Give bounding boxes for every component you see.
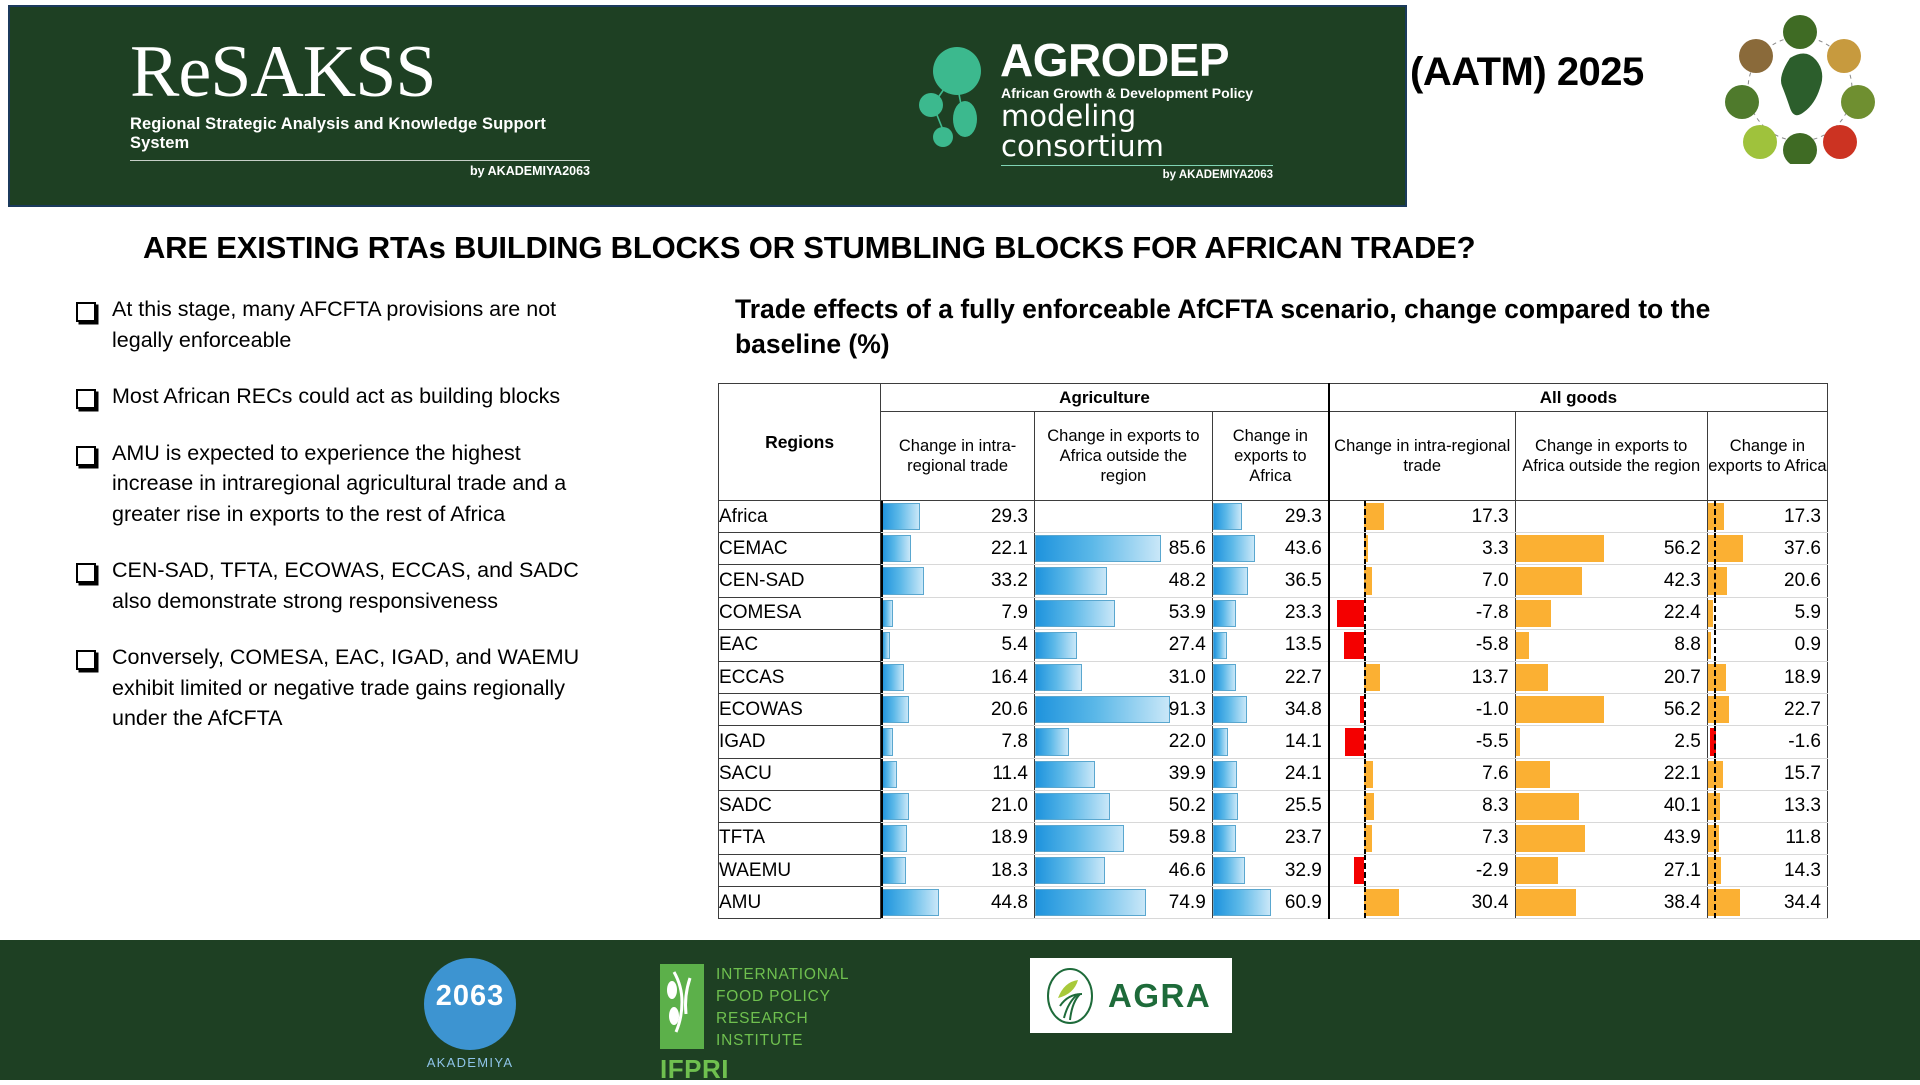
row-label-sadc: SADC xyxy=(719,790,881,822)
cell-cemac-c3: 3.3 xyxy=(1329,533,1515,565)
page-title: ARE EXISTING RTAs BUILDING BLOCKS OR STU… xyxy=(143,230,1743,266)
cell-sacu-c3: 7.6 xyxy=(1329,758,1515,790)
cell-amu-c3: 30.4 xyxy=(1329,887,1515,919)
cell-value: 37.6 xyxy=(1784,533,1821,564)
cell-value: 22.1 xyxy=(991,533,1028,564)
cell-eac-c0: 5.4 xyxy=(881,629,1035,661)
cell-waemu-c0: 18.3 xyxy=(881,855,1035,887)
zero-axis-dashed-line xyxy=(1714,694,1716,726)
cell-cen-sad-c5: 20.6 xyxy=(1707,565,1827,597)
cell-value: 25.5 xyxy=(1285,791,1322,822)
cell-value: 7.8 xyxy=(1002,726,1028,757)
cell-tfta-c2: 23.7 xyxy=(1212,822,1329,854)
agra-seed-icon xyxy=(1044,966,1100,1026)
col-header-regions: Regions xyxy=(719,384,881,501)
cell-value: -5.8 xyxy=(1476,630,1509,661)
group-header-row: Regions Agriculture All goods xyxy=(719,384,1828,412)
cell-value: -1.6 xyxy=(1788,726,1821,757)
cell-value: -2.9 xyxy=(1476,855,1509,886)
cell-cen-sad-c1: 48.2 xyxy=(1034,565,1212,597)
list-item-text: At this stage, many AFCFTA provisions ar… xyxy=(112,294,596,355)
cell-waemu-c4: 27.1 xyxy=(1515,855,1707,887)
cell-value: 46.6 xyxy=(1169,855,1206,886)
cell-value: 34.4 xyxy=(1784,887,1821,918)
cell-cemac-c2: 43.6 xyxy=(1212,533,1329,565)
list-item: At this stage, many AFCFTA provisions ar… xyxy=(76,294,596,355)
cell-value: 29.3 xyxy=(991,501,1028,532)
zero-axis-dashed-line xyxy=(1714,661,1716,693)
cell-eccas-c5: 18.9 xyxy=(1707,661,1827,693)
zero-axis-dashed-line xyxy=(1364,726,1366,758)
zero-axis-line xyxy=(881,598,883,629)
cell-igad-c3: -5.5 xyxy=(1329,726,1515,758)
list-item-text: Conversely, COMESA, EAC, IGAD, and WAEMU… xyxy=(112,642,596,734)
zero-axis-dashed-line xyxy=(1364,694,1366,726)
table-row: ECOWAS20.691.334.8-1.056.222.7 xyxy=(719,694,1828,726)
row-label-africa: Africa xyxy=(719,501,881,533)
agrodep-modeling-text: modeling consortium xyxy=(1001,101,1305,162)
cell-tfta-c4: 43.9 xyxy=(1515,822,1707,854)
table-row: TFTA18.959.823.77.343.911.8 xyxy=(719,822,1828,854)
cell-value: 30.4 xyxy=(1472,887,1509,918)
cell-ecowas-c3: -1.0 xyxy=(1329,694,1515,726)
cell-value: 33.2 xyxy=(991,565,1028,596)
row-label-eac: EAC xyxy=(719,629,881,661)
cell-africa-c3: 17.3 xyxy=(1329,501,1515,533)
cell-value: 22.7 xyxy=(1784,694,1821,725)
cell-value: 8.8 xyxy=(1674,630,1700,661)
ifpri-line-2: FOOD POLICY xyxy=(716,986,849,1008)
row-label-tfta: TFTA xyxy=(719,822,881,854)
cell-cen-sad-c2: 36.5 xyxy=(1212,565,1329,597)
cell-value: 60.9 xyxy=(1285,887,1322,918)
zero-axis-dashed-line xyxy=(1364,501,1366,533)
cell-amu-c2: 60.9 xyxy=(1212,887,1329,919)
square-bullet-icon xyxy=(76,563,96,583)
cell-value: 48.2 xyxy=(1169,565,1206,596)
zero-axis-dashed-line xyxy=(1714,790,1716,822)
zero-axis-line xyxy=(881,759,883,790)
resakss-logo: ReSAKSS Regional Strategic Analysis and … xyxy=(130,35,590,178)
cell-value: 36.5 xyxy=(1285,565,1322,596)
cell-value: 21.0 xyxy=(991,791,1028,822)
zero-axis-dashed-line xyxy=(1714,533,1716,565)
akademiya-logo: 2063 AKADEMIYA xyxy=(415,958,525,1070)
ifpri-plant-icon xyxy=(660,964,704,1049)
cell-value: 42.3 xyxy=(1664,565,1701,596)
cell-eccas-c2: 22.7 xyxy=(1212,661,1329,693)
bullet-list: At this stage, many AFCFTA provisions ar… xyxy=(76,294,596,760)
cell-value: 24.1 xyxy=(1285,759,1322,790)
cell-igad-c2: 14.1 xyxy=(1212,726,1329,758)
row-label-waemu: WAEMU xyxy=(719,855,881,887)
zero-axis-dashed-line xyxy=(1714,565,1716,597)
cell-value: 20.6 xyxy=(991,694,1028,725)
agrodep-divider xyxy=(1001,165,1273,166)
cell-sadc-c0: 21.0 xyxy=(881,790,1035,822)
cell-value: 23.3 xyxy=(1285,598,1322,629)
cell-value: 18.9 xyxy=(1784,662,1821,693)
cell-sacu-c5: 15.7 xyxy=(1707,758,1827,790)
cell-eccas-c3: 13.7 xyxy=(1329,661,1515,693)
row-label-ecowas: ECOWAS xyxy=(719,694,881,726)
cell-comesa-c4: 22.4 xyxy=(1515,597,1707,629)
ifpri-logo: IFPRI INTERNATIONAL FOOD POLICY RESEARCH… xyxy=(660,964,849,1052)
ifpri-wordmark: IFPRI xyxy=(660,1054,729,1085)
cell-value: 5.4 xyxy=(1002,630,1028,661)
cell-value: 7.3 xyxy=(1482,823,1508,854)
header-green-band: ReSAKSS Regional Strategic Analysis and … xyxy=(8,5,1407,207)
zero-axis-line xyxy=(881,662,883,693)
square-bullet-icon xyxy=(76,389,96,409)
group-header-all-goods: All goods xyxy=(1329,384,1828,412)
cell-value: 15.7 xyxy=(1784,759,1821,790)
zero-axis-dashed-line xyxy=(1714,629,1716,661)
cell-amu-c0: 44.8 xyxy=(881,887,1035,919)
cell-value: -1.0 xyxy=(1476,694,1509,725)
cell-cemac-c5: 37.6 xyxy=(1707,533,1827,565)
zero-axis-dashed-line xyxy=(1714,855,1716,887)
square-bullet-icon xyxy=(76,446,96,466)
zero-axis-line xyxy=(881,855,883,886)
agrodep-nodes-icon xyxy=(915,43,1005,153)
aatm-year-label: (AATM) 2025 xyxy=(1410,50,1644,95)
cell-comesa-c5: 5.9 xyxy=(1707,597,1827,629)
col-header-agri-africa: Change in exports to Africa xyxy=(1212,412,1329,501)
zero-axis-dashed-line xyxy=(1714,758,1716,790)
cell-sadc-c3: 8.3 xyxy=(1329,790,1515,822)
cell-value: 14.3 xyxy=(1784,855,1821,886)
cell-value: 34.8 xyxy=(1285,694,1322,725)
agrodep-logo: AGRODEP African Growth & Development Pol… xyxy=(915,37,1305,181)
zero-axis-dashed-line xyxy=(1714,887,1716,919)
cell-eac-c1: 27.4 xyxy=(1034,629,1212,661)
cell-sacu-c4: 22.1 xyxy=(1515,758,1707,790)
cell-value: 32.9 xyxy=(1285,855,1322,886)
cell-eac-c4: 8.8 xyxy=(1515,629,1707,661)
cell-amu-c5: 34.4 xyxy=(1707,887,1827,919)
cell-value: 39.9 xyxy=(1169,759,1206,790)
cell-value: 17.3 xyxy=(1784,501,1821,532)
cell-value: 56.2 xyxy=(1664,694,1701,725)
zero-axis-dashed-line xyxy=(1714,501,1716,533)
col-header-all-intra: Change in intra-regional trade xyxy=(1329,412,1515,501)
ifpri-line-1: INTERNATIONAL xyxy=(716,964,849,986)
cell-value: 43.9 xyxy=(1664,823,1701,854)
zero-axis-line xyxy=(881,501,883,532)
group-header-agriculture: Agriculture xyxy=(881,384,1329,412)
ifpri-line-4: INSTITUTE xyxy=(716,1030,849,1052)
row-label-cemac: CEMAC xyxy=(719,533,881,565)
cell-value: 2.5 xyxy=(1674,726,1700,757)
square-bullet-icon xyxy=(76,302,96,322)
table-row: WAEMU18.346.632.9-2.927.114.3 xyxy=(719,855,1828,887)
zero-axis-dashed-line xyxy=(1364,597,1366,629)
table-row: COMESA7.953.923.3-7.822.45.9 xyxy=(719,597,1828,629)
zero-axis-dashed-line xyxy=(1364,855,1366,887)
col-header-all-outside: Change in exports to Africa outside the … xyxy=(1515,412,1707,501)
cell-comesa-c2: 23.3 xyxy=(1212,597,1329,629)
cell-waemu-c2: 32.9 xyxy=(1212,855,1329,887)
zero-axis-dashed-line xyxy=(1714,597,1716,629)
chart-title: Trade effects of a fully enforceable AfC… xyxy=(735,292,1745,362)
cell-value: 31.0 xyxy=(1169,662,1206,693)
cell-value: 11.8 xyxy=(1785,823,1821,854)
cell-value: 22.1 xyxy=(1664,759,1701,790)
cell-africa-c0: 29.3 xyxy=(881,501,1035,533)
cell-cemac-c4: 56.2 xyxy=(1515,533,1707,565)
list-item-text: AMU is expected to experience the highes… xyxy=(112,438,596,530)
slide-footer: 2063 AKADEMIYA IFPRI INTERNATIONAL FOOD … xyxy=(0,940,1920,1080)
cell-value: 56.2 xyxy=(1664,533,1701,564)
col-header-all-africa: Change in exports to Africa xyxy=(1707,412,1827,501)
cell-value: 18.3 xyxy=(991,855,1028,886)
akademiya-label: AKADEMIYA xyxy=(415,1055,525,1070)
cell-value: 59.8 xyxy=(1169,823,1206,854)
cell-value: 53.9 xyxy=(1169,598,1206,629)
cell-value: 40.1 xyxy=(1664,791,1701,822)
cell-value: 5.9 xyxy=(1795,598,1821,629)
cell-value: 18.9 xyxy=(991,823,1028,854)
row-label-cen-sad: CEN-SAD xyxy=(719,565,881,597)
zero-axis-line xyxy=(881,565,883,596)
resakss-attribution: by AKADEMIYA2063 xyxy=(130,160,590,178)
akademiya-circle-icon: 2063 xyxy=(424,958,516,1050)
cell-value: 3.3 xyxy=(1482,533,1508,564)
cell-ecowas-c5: 22.7 xyxy=(1707,694,1827,726)
table-row: AMU44.874.960.930.438.434.4 xyxy=(719,887,1828,919)
list-item: CEN-SAD, TFTA, ECOWAS, ECCAS, and SADC a… xyxy=(76,555,596,616)
cell-eccas-c0: 16.4 xyxy=(881,661,1035,693)
table-head: Regions Agriculture All goods Change in … xyxy=(719,384,1828,501)
list-item-text: CEN-SAD, TFTA, ECOWAS, ECCAS, and SADC a… xyxy=(112,555,596,616)
cell-africa-c1 xyxy=(1034,501,1212,533)
akademiya-year: 2063 xyxy=(424,980,516,1013)
resakss-wordmark: ReSAKSS xyxy=(130,35,590,109)
table-row: ECCAS16.431.022.713.720.718.9 xyxy=(719,661,1828,693)
cell-value: 7.9 xyxy=(1002,598,1028,629)
cell-africa-c5: 17.3 xyxy=(1707,501,1827,533)
cell-value: 22.4 xyxy=(1664,598,1701,629)
cell-eac-c3: -5.8 xyxy=(1329,629,1515,661)
ifpri-line-3: RESEARCH xyxy=(716,1008,849,1030)
ifpri-name-block: INTERNATIONAL FOOD POLICY RESEARCH INSTI… xyxy=(716,964,849,1052)
zero-axis-line xyxy=(881,533,883,564)
row-label-igad: IGAD xyxy=(719,726,881,758)
zero-axis-line xyxy=(881,694,883,725)
cell-value: 8.3 xyxy=(1482,791,1508,822)
cell-eccas-c4: 20.7 xyxy=(1515,661,1707,693)
row-label-sacu: SACU xyxy=(719,758,881,790)
cell-value: 74.9 xyxy=(1169,887,1206,918)
cell-value: 43.6 xyxy=(1285,533,1322,564)
cell-sacu-c2: 24.1 xyxy=(1212,758,1329,790)
cell-igad-c5: -1.6 xyxy=(1707,726,1827,758)
cell-value: 16.4 xyxy=(991,662,1028,693)
cell-comesa-c1: 53.9 xyxy=(1034,597,1212,629)
zero-axis-dashed-line xyxy=(1364,629,1366,661)
cell-igad-c4: 2.5 xyxy=(1515,726,1707,758)
cell-value: 27.4 xyxy=(1169,630,1206,661)
resakss-subtitle: Regional Strategic Analysis and Knowledg… xyxy=(130,115,590,153)
zero-axis-dashed-line xyxy=(1364,533,1366,565)
cell-sadc-c5: 13.3 xyxy=(1707,790,1827,822)
cell-value: 13.7 xyxy=(1472,662,1509,693)
zero-axis-dashed-line xyxy=(1364,822,1366,854)
cell-tfta-c3: 7.3 xyxy=(1329,822,1515,854)
cell-value: 17.3 xyxy=(1472,501,1509,532)
table-row: IGAD7.822.014.1-5.52.5-1.6 xyxy=(719,726,1828,758)
cell-value: 7.0 xyxy=(1482,565,1508,596)
cell-sadc-c1: 50.2 xyxy=(1034,790,1212,822)
zero-axis-line xyxy=(881,726,883,757)
table-row: EAC5.427.413.5-5.88.80.9 xyxy=(719,629,1828,661)
agrodep-wordmark: AGRODEP xyxy=(1000,37,1305,83)
agra-wordmark: AGRA xyxy=(1108,977,1211,1015)
zero-axis-dashed-line xyxy=(1364,565,1366,597)
cell-cen-sad-c3: 7.0 xyxy=(1329,565,1515,597)
trade-effects-table: Regions Agriculture All goods Change in … xyxy=(718,383,1828,919)
cell-waemu-c3: -2.9 xyxy=(1329,855,1515,887)
table-row: SADC21.050.225.58.340.113.3 xyxy=(719,790,1828,822)
cell-value: 20.7 xyxy=(1664,662,1701,693)
cell-cemac-c1: 85.6 xyxy=(1034,533,1212,565)
cell-waemu-c1: 46.6 xyxy=(1034,855,1212,887)
cell-ecowas-c2: 34.8 xyxy=(1212,694,1329,726)
cell-value: 91.3 xyxy=(1169,694,1206,725)
square-bullet-icon xyxy=(76,650,96,670)
cell-ecowas-c1: 91.3 xyxy=(1034,694,1212,726)
zero-axis-line xyxy=(881,887,883,918)
zero-axis-dashed-line xyxy=(1714,726,1716,758)
cell-value: 11.4 xyxy=(992,759,1028,790)
list-item: AMU is expected to experience the highes… xyxy=(76,438,596,530)
cell-value: 38.4 xyxy=(1664,887,1701,918)
cell-value: -7.8 xyxy=(1476,598,1509,629)
zero-axis-line xyxy=(881,630,883,661)
cell-tfta-c0: 18.9 xyxy=(881,822,1035,854)
table-body: Africa29.329.317.317.3CEMAC22.185.643.63… xyxy=(719,501,1828,919)
zero-axis-dashed-line xyxy=(1364,887,1366,919)
zero-axis-line xyxy=(881,823,883,854)
cell-amu-c4: 38.4 xyxy=(1515,887,1707,919)
agra-logo: AGRA xyxy=(1030,958,1232,1033)
cell-igad-c0: 7.8 xyxy=(881,726,1035,758)
cell-cen-sad-c0: 33.2 xyxy=(881,565,1035,597)
table-row: Africa29.329.317.317.3 xyxy=(719,501,1828,533)
cell-ecowas-c0: 20.6 xyxy=(881,694,1035,726)
agrodep-attribution: by AKADEMIYA2063 xyxy=(1001,169,1273,181)
cell-value: 22.7 xyxy=(1285,662,1322,693)
cell-comesa-c3: -7.8 xyxy=(1329,597,1515,629)
cell-value: 22.0 xyxy=(1169,726,1206,757)
cell-sadc-c4: 40.1 xyxy=(1515,790,1707,822)
col-header-agri-intra: Change in intra-regional trade xyxy=(881,412,1035,501)
row-label-amu: AMU xyxy=(719,887,881,919)
zero-axis-line xyxy=(881,791,883,822)
table-row: CEMAC22.185.643.63.356.237.6 xyxy=(719,533,1828,565)
cell-cen-sad-c4: 42.3 xyxy=(1515,565,1707,597)
cell-value: 50.2 xyxy=(1169,791,1206,822)
cell-value: 44.8 xyxy=(991,887,1028,918)
cell-value: 0.9 xyxy=(1795,630,1821,661)
slide-header: ReSAKSS Regional Strategic Analysis and … xyxy=(0,0,1920,212)
cell-comesa-c0: 7.9 xyxy=(881,597,1035,629)
cell-value: 13.5 xyxy=(1285,630,1322,661)
list-item: Most African RECs could act as building … xyxy=(76,381,596,412)
zero-axis-dashed-line xyxy=(1364,758,1366,790)
cell-value: -5.5 xyxy=(1476,726,1509,757)
zero-axis-dashed-line xyxy=(1714,822,1716,854)
cell-value: 27.1 xyxy=(1664,855,1701,886)
cell-waemu-c5: 14.3 xyxy=(1707,855,1827,887)
row-label-eccas: ECCAS xyxy=(719,661,881,693)
cell-eac-c2: 13.5 xyxy=(1212,629,1329,661)
trade-effects-table-wrapper: Regions Agriculture All goods Change in … xyxy=(718,383,1828,919)
cell-eac-c5: 0.9 xyxy=(1707,629,1827,661)
list-item-text: Most African RECs could act as building … xyxy=(112,381,560,412)
cell-value: 29.3 xyxy=(1285,501,1322,532)
zero-axis-dashed-line xyxy=(1364,790,1366,822)
cell-value: 14.1 xyxy=(1285,726,1322,757)
cell-sacu-c0: 11.4 xyxy=(881,758,1035,790)
table-row: SACU11.439.924.17.622.115.7 xyxy=(719,758,1828,790)
cell-tfta-c5: 11.8 xyxy=(1707,822,1827,854)
zero-axis-dashed-line xyxy=(1364,661,1366,693)
cell-eccas-c1: 31.0 xyxy=(1034,661,1212,693)
cell-sadc-c2: 25.5 xyxy=(1212,790,1329,822)
col-header-agri-outside: Change in exports to Africa outside the … xyxy=(1034,412,1212,501)
list-item: Conversely, COMESA, EAC, IGAD, and WAEMU… xyxy=(76,642,596,734)
cell-amu-c1: 74.9 xyxy=(1034,887,1212,919)
cell-tfta-c1: 59.8 xyxy=(1034,822,1212,854)
cell-value: 20.6 xyxy=(1784,565,1821,596)
cell-ecowas-c4: 56.2 xyxy=(1515,694,1707,726)
cell-value: 13.3 xyxy=(1784,791,1821,822)
cell-igad-c1: 22.0 xyxy=(1034,726,1212,758)
column-header-row: Change in intra-regional trade Change in… xyxy=(719,412,1828,501)
row-label-comesa: COMESA xyxy=(719,597,881,629)
table-row: CEN-SAD33.248.236.57.042.320.6 xyxy=(719,565,1828,597)
aatm-circle-logo-icon xyxy=(1720,14,1880,164)
cell-africa-c4 xyxy=(1515,501,1707,533)
cell-sacu-c1: 39.9 xyxy=(1034,758,1212,790)
cell-value: 23.7 xyxy=(1285,823,1322,854)
cell-cemac-c0: 22.1 xyxy=(881,533,1035,565)
ifpri-mark-icon: IFPRI xyxy=(660,964,704,1049)
cell-value: 7.6 xyxy=(1482,759,1508,790)
cell-africa-c2: 29.3 xyxy=(1212,501,1329,533)
cell-value: 85.6 xyxy=(1169,533,1206,564)
